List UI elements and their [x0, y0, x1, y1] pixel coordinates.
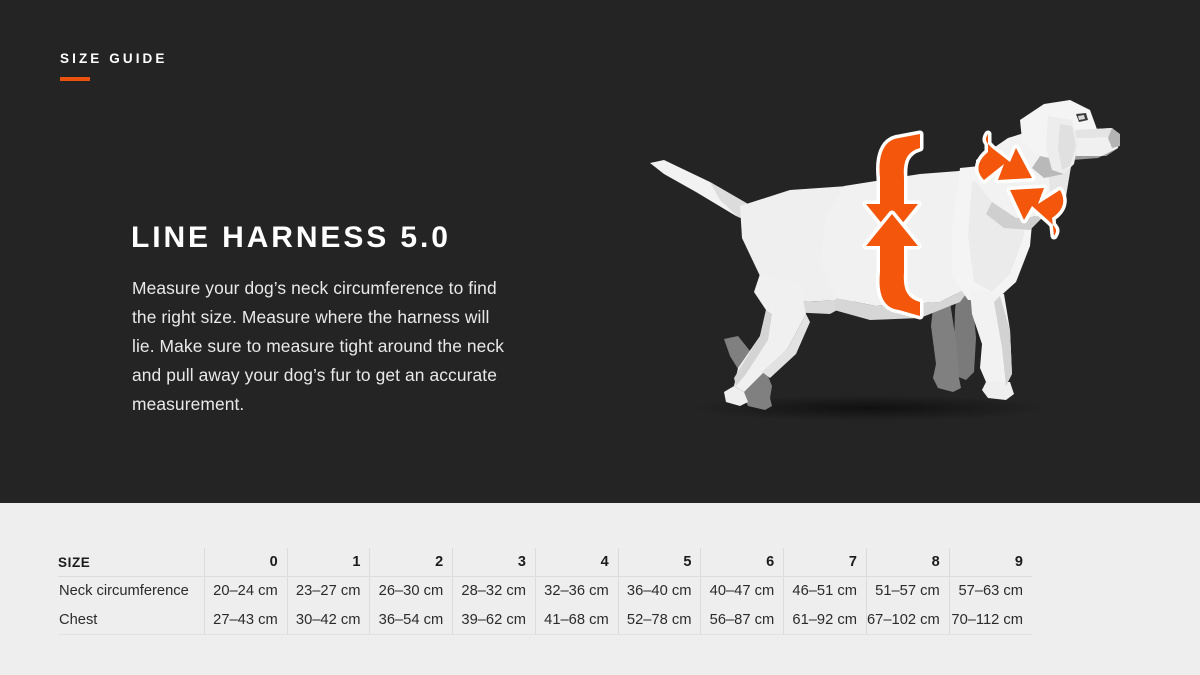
page-title: LINE HARNESS 5.0 — [131, 223, 451, 253]
header-size-9: 9 — [949, 548, 1032, 577]
chest-size-1: 30–42 cm — [287, 606, 370, 635]
dog-illustration — [620, 86, 1120, 431]
neck-size-8: 51–57 cm — [866, 577, 949, 606]
row-label-chest: Chest — [58, 606, 204, 635]
table-row: Neck circumference 20–24 cm 23–27 cm 26–… — [58, 577, 1032, 606]
chest-size-2: 36–54 cm — [370, 606, 453, 635]
header-size-5: 5 — [618, 548, 701, 577]
measuring-instructions: Measure your dog’s neck circumference to… — [132, 274, 512, 418]
neck-size-4: 32–36 cm — [535, 577, 618, 606]
chest-size-0: 27–43 cm — [204, 606, 287, 635]
chest-size-7: 61–92 cm — [784, 606, 867, 635]
neck-size-0: 20–24 cm — [204, 577, 287, 606]
size-guide-page: SIZE GUIDE LINE HARNESS 5.0 Measure your… — [0, 0, 1200, 675]
header-size-1: 1 — [287, 548, 370, 577]
row-label-neck: Neck circumference — [58, 577, 204, 606]
header-size-6: 6 — [701, 548, 784, 577]
accent-rule — [60, 77, 90, 81]
chest-size-5: 52–78 cm — [618, 606, 701, 635]
size-table: SIZE 0 1 2 3 4 5 6 7 8 9 Neck circumfere… — [58, 548, 1032, 635]
neck-size-9: 57–63 cm — [949, 577, 1032, 606]
header-size-label: SIZE — [58, 548, 204, 577]
header-size-8: 8 — [866, 548, 949, 577]
neck-size-2: 26–30 cm — [370, 577, 453, 606]
table-row: Chest 27–43 cm 30–42 cm 36–54 cm 39–62 c… — [58, 606, 1032, 635]
header-size-2: 2 — [370, 548, 453, 577]
chest-size-3: 39–62 cm — [453, 606, 536, 635]
chest-size-9: 70–112 cm — [949, 606, 1032, 635]
table-header-row: SIZE 0 1 2 3 4 5 6 7 8 9 — [58, 548, 1032, 577]
page-eyebrow: SIZE GUIDE — [60, 52, 168, 66]
size-table-section: SIZE 0 1 2 3 4 5 6 7 8 9 Neck circumfere… — [0, 503, 1200, 675]
chest-size-8: 67–102 cm — [866, 606, 949, 635]
header-size-3: 3 — [453, 548, 536, 577]
neck-size-5: 36–40 cm — [618, 577, 701, 606]
chest-size-6: 56–87 cm — [701, 606, 784, 635]
chest-size-4: 41–68 cm — [535, 606, 618, 635]
header-size-4: 4 — [535, 548, 618, 577]
neck-size-6: 40–47 cm — [701, 577, 784, 606]
hero-section: SIZE GUIDE LINE HARNESS 5.0 Measure your… — [0, 0, 1200, 503]
header-size-0: 0 — [204, 548, 287, 577]
neck-size-7: 46–51 cm — [784, 577, 867, 606]
neck-size-3: 28–32 cm — [453, 577, 536, 606]
header-size-7: 7 — [784, 548, 867, 577]
neck-size-1: 23–27 cm — [287, 577, 370, 606]
